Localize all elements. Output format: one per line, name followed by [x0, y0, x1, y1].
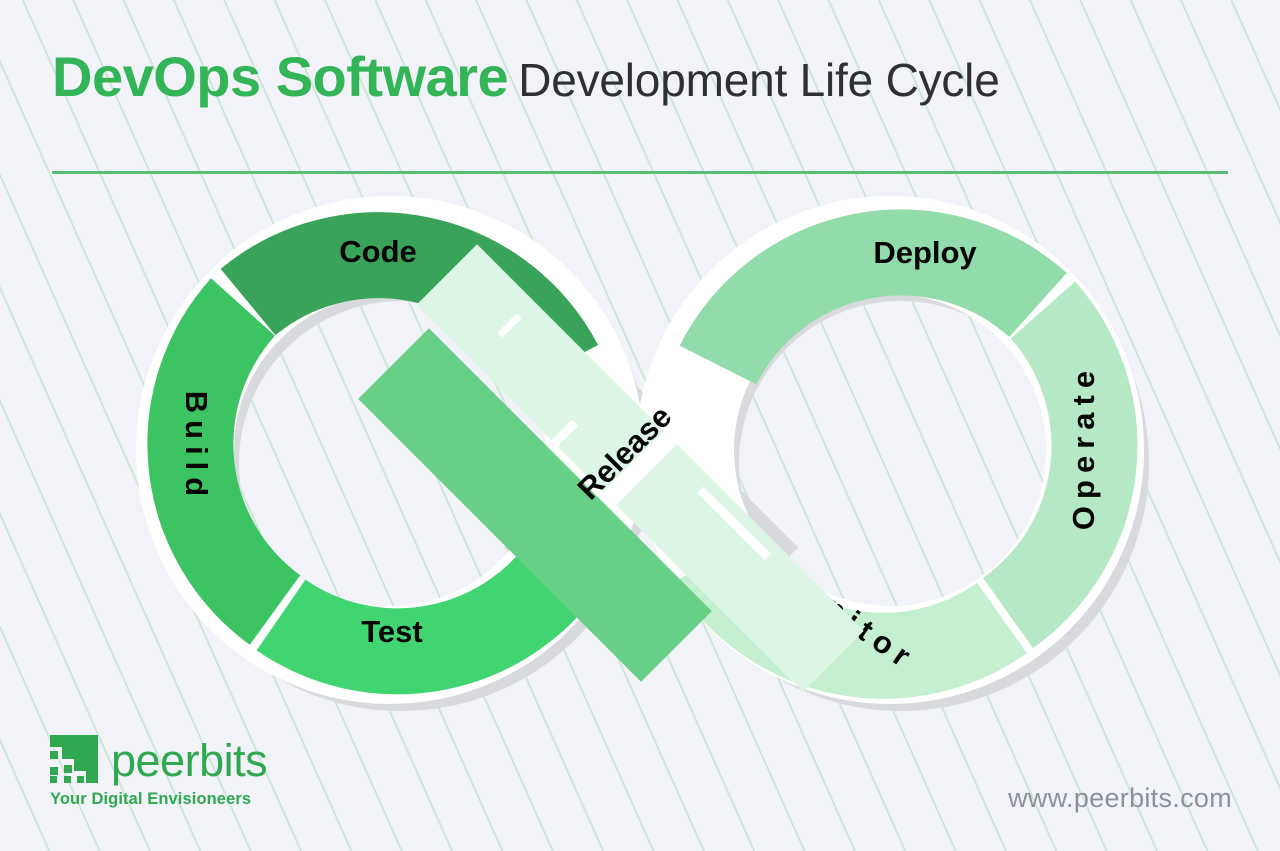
page-title: DevOps SoftwareDevelopment Life Cycle	[52, 44, 1232, 109]
peerbits-logo-mark	[50, 735, 98, 783]
segment-label-test: Test	[361, 614, 422, 649]
peerbits-logo[interactable]: peerbits Your Digital Envisioneers	[50, 735, 380, 809]
segment-label-build: Build	[179, 391, 214, 504]
header-divider	[52, 171, 1228, 174]
website-url[interactable]: www.peerbits.com	[1008, 783, 1232, 814]
poster-canvas: DevOps SoftwareDevelopment Life Cycle	[0, 0, 1280, 851]
devops-infinity-diagram: Code Build Test Deploy Operate	[0, 185, 1280, 715]
segment-label-code: Code	[339, 234, 417, 269]
segment-build[interactable]: Build	[179, 307, 275, 610]
segment-label-operate: Operate	[1066, 364, 1101, 530]
segment-label-deploy: Deploy	[873, 235, 977, 270]
title-rest-text: Development Life Cycle	[518, 54, 999, 106]
title-accent-text: DevOps Software	[52, 45, 508, 108]
peerbits-logo-wordmark: peerbits	[111, 740, 267, 783]
peerbits-tagline: Your Digital Envisioneers	[50, 790, 380, 809]
